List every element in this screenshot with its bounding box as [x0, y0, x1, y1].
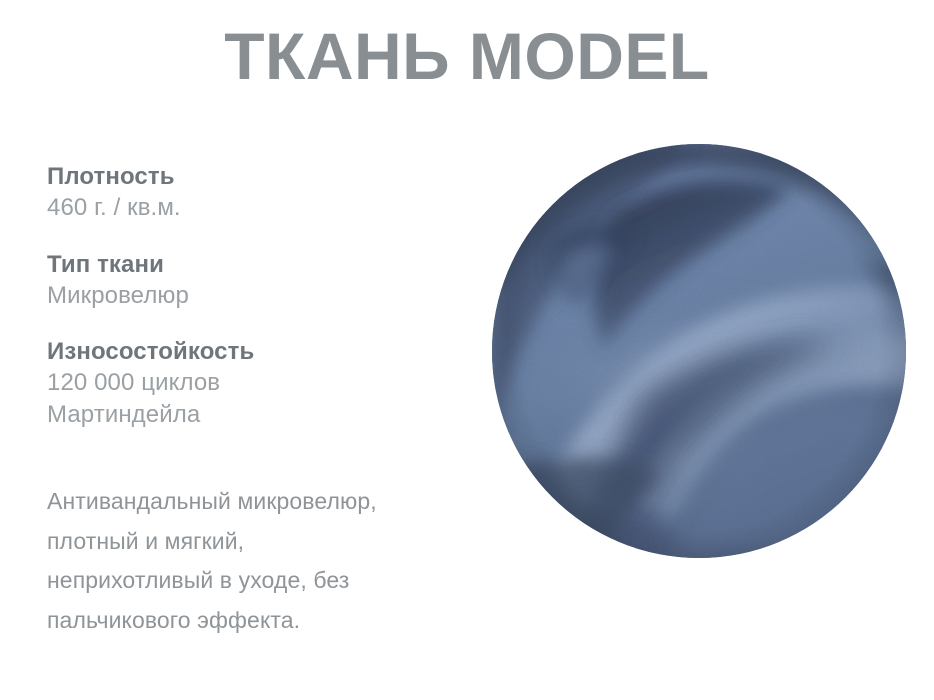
description-line-1: Антивандальный микровелюр, [47, 482, 467, 522]
spec-value-durability-standard: Мартиндейла [47, 399, 467, 431]
fabric-spec-slide: ТКАНЬ MODEL Плотность 460 г. / кв.м. Тип… [0, 0, 934, 700]
fabric-photo-circle [492, 144, 906, 558]
spec-value-fabric-type: Микровелюр [47, 280, 467, 312]
spec-item-fabric-type: Тип ткани Микровелюр [47, 251, 467, 312]
description-line-4: пальчикового эффекта. [47, 601, 467, 641]
spec-value-durability-cycles: 120 000 циклов [47, 367, 467, 399]
spec-item-density: Плотность 460 г. / кв.м. [47, 163, 467, 224]
page-title: ТКАНЬ MODEL [0, 22, 934, 91]
fabric-description: Антивандальный микровелюр, плотный и мяг… [47, 482, 467, 640]
spec-label-fabric-type: Тип ткани [47, 251, 467, 280]
description-line-2: плотный и мягкий, [47, 522, 467, 562]
spec-value-density: 460 г. / кв.м. [47, 192, 467, 224]
spec-item-durability: Износостойкость 120 000 циклов Мартиндей… [47, 338, 467, 431]
spec-label-durability: Износостойкость [47, 338, 467, 367]
spec-label-density: Плотность [47, 163, 467, 192]
spec-list: Плотность 460 г. / кв.м. Тип ткани Микро… [47, 163, 467, 431]
description-line-3: неприхотливый в уходе, без [47, 561, 467, 601]
blue-microvelour-fabric-photo [492, 144, 906, 558]
